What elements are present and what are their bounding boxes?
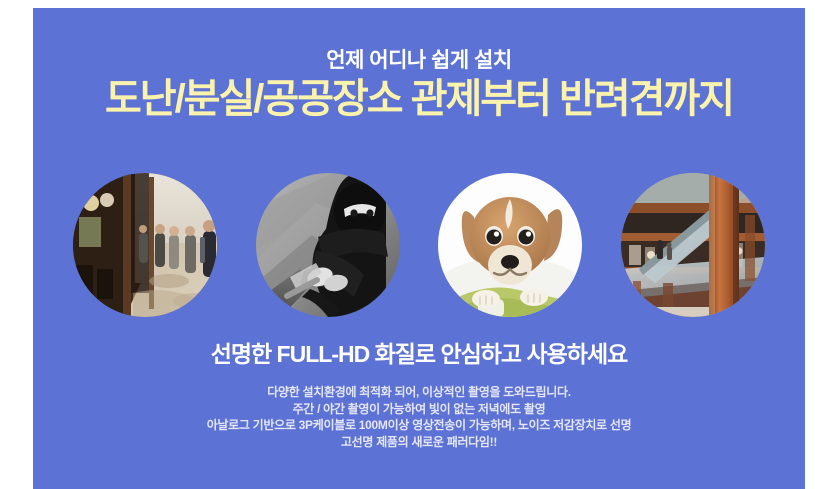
shopping-mall-corridor-photo — [73, 173, 217, 317]
headline-block: 언제 어디나 쉽게 설치 도난/분실/공공장소 관제부터 반려견까지 — [33, 48, 805, 123]
mall-escalator-photo — [621, 173, 765, 317]
promo-banner: 언제 어디나 쉽게 설치 도난/분실/공공장소 관제부터 반려견까지 — [33, 8, 805, 489]
puppy-photo — [438, 173, 582, 317]
fineprint-line: 다양한 설치환경에 최적화 되어, 이상적인 촬영을 도와드립니다. — [33, 384, 805, 401]
fineprint-line: 아날로그 기반으로 3P케이블로 100M이상 영상전송이 가능하며, 노이즈 … — [33, 417, 805, 434]
eyebrow-text: 언제 어디나 쉽게 설치 — [33, 48, 805, 74]
headline-text: 도난/분실/공공장소 관제부터 반려견까지 — [33, 76, 805, 123]
fineprint-line: 고선명 제품의 새로운 패러다임!! — [33, 434, 805, 451]
photo-strip — [73, 170, 765, 320]
fineprint-line: 주간 / 야간 촬영이 가능하여 빛이 없는 저녁에도 촬영 — [33, 401, 805, 418]
subhead-text: 선명한 FULL-HD 화질로 안심하고 사용하세요 — [33, 340, 805, 370]
masked-burglar-photo — [256, 173, 400, 317]
fineprint-list: 다양한 설치환경에 최적화 되어, 이상적인 촬영을 도와드립니다. 주간 / … — [33, 384, 805, 450]
